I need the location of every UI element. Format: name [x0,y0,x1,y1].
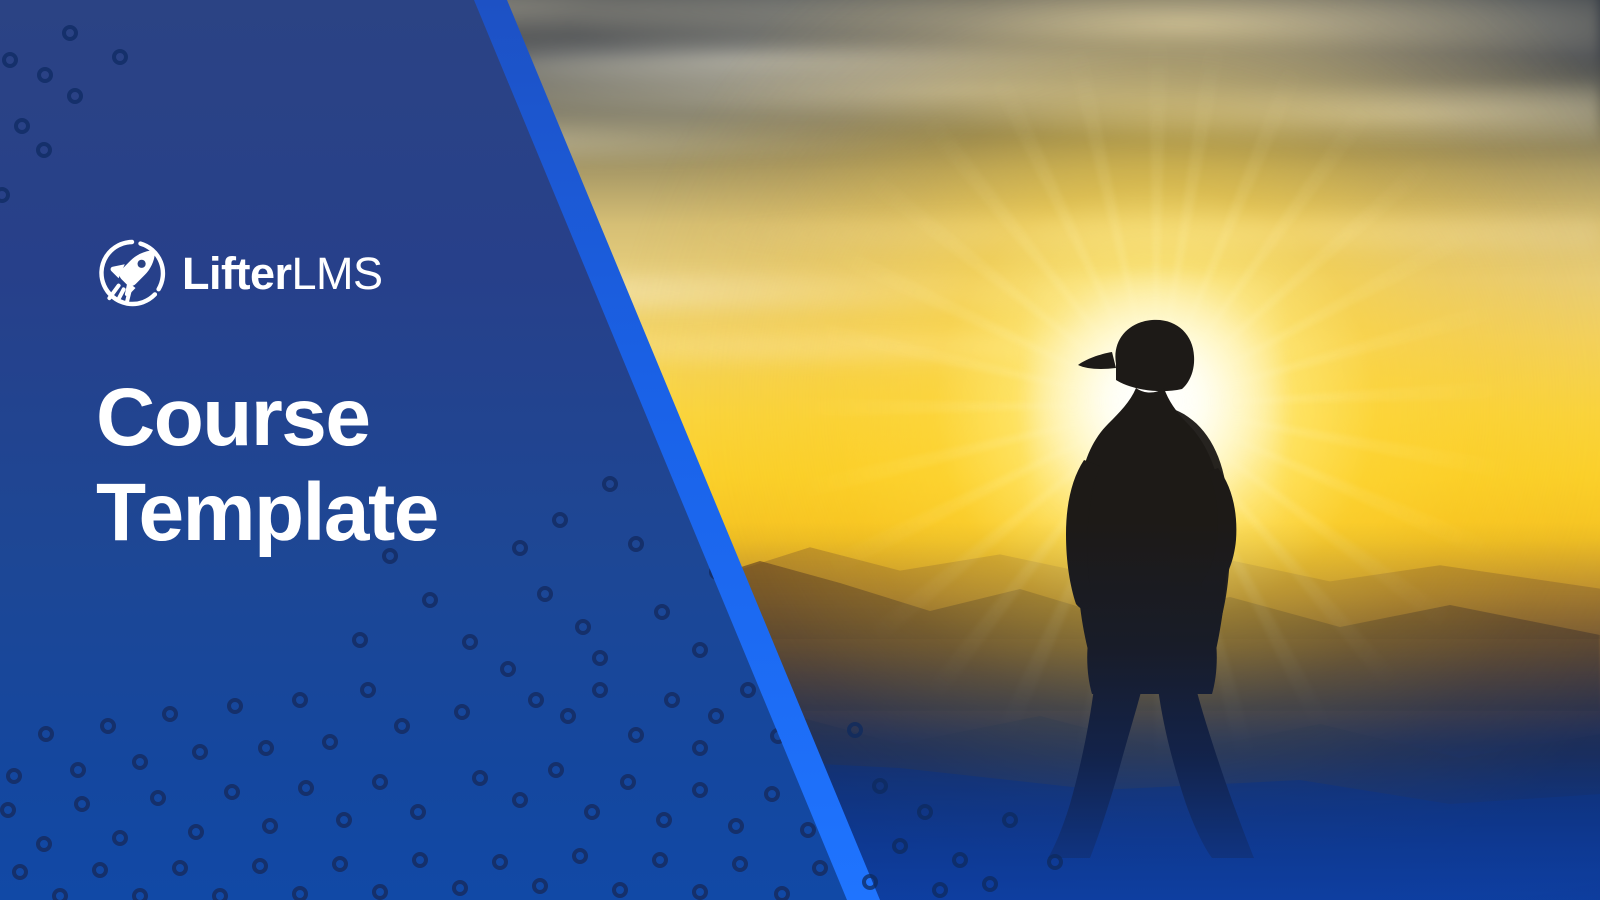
rocket-in-circle-icon [96,237,168,309]
brand-wordmark: LifterLMS [182,251,383,296]
course-template-banner: LifterLMS Course Template [0,0,1600,900]
panel-content: LifterLMS Course Template [96,236,526,615]
brand-wordmark-bold: Lifter [182,248,292,299]
page-title-line-1: Course [96,370,526,465]
brand-wordmark-light: LMS [292,248,383,299]
brand-lockup: LifterLMS [96,236,526,310]
page-title-line-2: Template [96,465,526,560]
page-title: Course Template [96,370,526,560]
